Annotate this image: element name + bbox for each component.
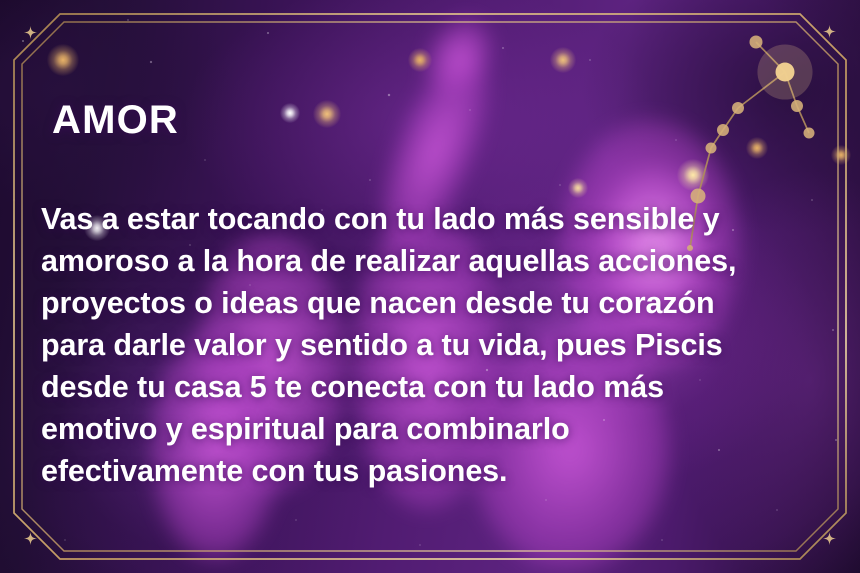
body-line: amoroso a la hora de realizar aquellas a… <box>41 240 801 282</box>
body-line: Vas a estar tocando con tu lado más sens… <box>41 198 801 240</box>
body-line: para darle valor y sentido a tu vida, pu… <box>41 324 801 366</box>
body-line: efectivamente con tus pasiones. <box>41 450 801 492</box>
page-title: AMOR <box>52 98 179 143</box>
body-line: desde tu casa 5 te conecta con tu lado m… <box>41 366 801 408</box>
horoscope-amor-card: AMOR Vas a estar tocando con tu lado más… <box>0 0 860 573</box>
body-line: emotivo y espiritual para combinarlo <box>41 408 801 450</box>
horoscope-body-text: Vas a estar tocando con tu lado más sens… <box>41 198 801 492</box>
text-content: AMOR Vas a estar tocando con tu lado más… <box>41 0 831 573</box>
body-line: proyectos o ideas que nacen desde tu cor… <box>41 282 801 324</box>
